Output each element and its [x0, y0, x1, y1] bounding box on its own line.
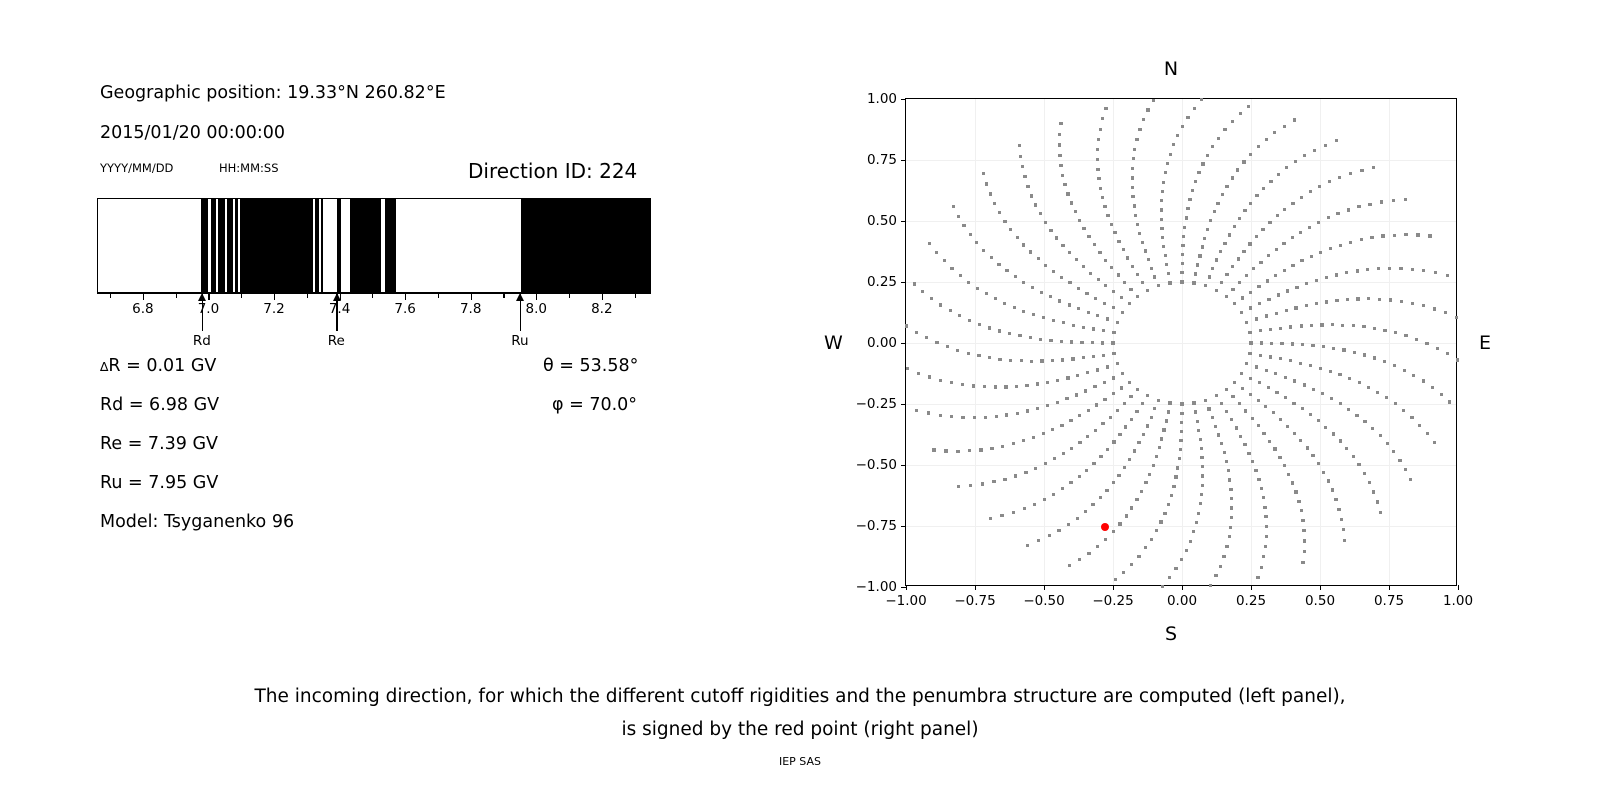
direction-point: [968, 319, 971, 322]
direction-point: [1067, 523, 1070, 526]
direction-point: [1301, 561, 1304, 564]
direction-point: [935, 251, 938, 254]
direction-point: [1431, 386, 1434, 389]
direction-point: [1303, 383, 1306, 386]
direction-point: [1123, 402, 1126, 405]
direction-point: [1247, 105, 1250, 108]
direction-point: [1069, 419, 1072, 422]
direction-point: [1121, 311, 1124, 314]
direction-point: [1061, 487, 1064, 490]
direction-point: [1404, 334, 1407, 337]
direction-point: [1074, 210, 1077, 213]
direction-point: [1034, 203, 1037, 206]
direction-point: [1062, 452, 1065, 455]
direction-point: [1277, 293, 1280, 296]
direction-point: [1068, 251, 1071, 254]
direction-point: [1338, 176, 1341, 179]
direction-point: [1078, 558, 1081, 561]
direction-point: [1096, 168, 1099, 171]
direction-point: [1209, 219, 1212, 222]
direction-point: [961, 416, 964, 419]
direction-point: [1164, 254, 1167, 257]
direction-point: [1087, 552, 1090, 555]
direction-point: [1123, 281, 1126, 284]
direction-point: [939, 379, 942, 382]
direction-point: [1347, 208, 1350, 211]
direction-point: [1070, 201, 1073, 204]
direction-point: [1204, 284, 1207, 287]
direction-point: [1336, 212, 1339, 215]
direction-point: [1436, 347, 1439, 350]
x-axis-tick-label: −0.25: [1092, 593, 1133, 609]
direction-point: [1367, 297, 1370, 300]
direction-point: [1116, 321, 1119, 324]
direction-point: [1140, 490, 1143, 493]
direction-point: [1315, 302, 1318, 305]
direction-point: [1261, 228, 1264, 231]
direction-point: [1403, 369, 1406, 372]
direction-point: [994, 297, 997, 300]
direction-point: [1319, 251, 1322, 254]
direction-point: [1412, 374, 1415, 377]
gridline-vertical: [1182, 99, 1183, 585]
direction-point: [1249, 202, 1252, 205]
direction-point: [985, 292, 988, 295]
direction-point: [1340, 518, 1343, 521]
direction-point: [1099, 455, 1102, 458]
direction-point: [1133, 148, 1136, 151]
direction-point: [1023, 507, 1026, 510]
direction-point: [935, 341, 938, 344]
direction-point: [1128, 302, 1131, 305]
gridline-vertical: [1044, 99, 1045, 585]
direction-point: [1225, 545, 1228, 548]
direction-point: [1269, 328, 1272, 331]
direction-point: [1131, 176, 1134, 179]
direction-point: [1016, 236, 1019, 239]
direction-point: [1228, 535, 1231, 538]
direction-point: [1345, 447, 1348, 450]
direction-point: [1161, 585, 1164, 588]
direction-point: [1240, 311, 1243, 314]
direction-point: [1004, 385, 1007, 388]
direction-point: [1305, 282, 1308, 285]
direction-point: [1130, 506, 1133, 509]
direction-point: [1381, 234, 1384, 237]
direction-point: [1325, 276, 1328, 279]
direction-point: [1300, 324, 1303, 327]
direction-point: [1289, 359, 1292, 362]
direction-point: [1059, 122, 1062, 125]
direction-point: [1264, 515, 1267, 518]
direction-point: [1024, 471, 1027, 474]
direction-point: [1311, 344, 1314, 347]
direction-point: [1015, 385, 1018, 388]
direction-point: [1283, 125, 1286, 128]
direction-point: [1279, 357, 1282, 360]
direction-point: [1192, 401, 1195, 404]
direction-point: [1042, 432, 1045, 435]
direction-point: [1030, 360, 1033, 363]
direction-point: [1305, 304, 1308, 307]
direction-point: [1181, 253, 1184, 256]
y-axis-tick-label: −0.75: [856, 518, 897, 534]
direction-point: [1345, 271, 1348, 274]
direction-point: [1236, 168, 1239, 171]
direction-point: [1087, 235, 1090, 238]
direction-point: [1078, 441, 1081, 444]
direction-point: [1208, 275, 1211, 278]
direction-point: [1063, 183, 1066, 186]
direction-point: [1263, 506, 1266, 509]
direction-point: [1260, 566, 1263, 569]
direction-point: [1377, 267, 1380, 270]
gridline-vertical: [1320, 99, 1321, 585]
direction-point: [1053, 457, 1056, 460]
direction-point: [1012, 442, 1015, 445]
direction-point: [1003, 478, 1006, 481]
direction-point: [1039, 212, 1042, 215]
direction-point: [1328, 180, 1331, 183]
direction-point: [1225, 388, 1228, 391]
direction-point: [1018, 334, 1021, 337]
direction-point: [1180, 421, 1183, 424]
direction-point: [1142, 118, 1145, 121]
direction-point: [1418, 424, 1421, 427]
right-panel: −1.00−0.75−0.50−0.250.000.250.500.751.00…: [0, 0, 1600, 660]
direction-point: [1049, 229, 1052, 232]
direction-point: [1214, 574, 1217, 577]
direction-point: [1299, 231, 1302, 234]
direction-point: [1146, 424, 1149, 427]
direction-point: [1249, 153, 1252, 156]
compass-south-label: S: [1165, 623, 1177, 645]
direction-point: [1394, 331, 1397, 334]
direction-point: [1180, 558, 1183, 561]
direction-point: [1085, 292, 1088, 295]
direction-point: [1197, 429, 1200, 432]
direction-point: [1005, 269, 1008, 272]
direction-point: [1346, 298, 1349, 301]
direction-point: [950, 381, 953, 384]
direction-point: [1012, 511, 1015, 514]
direction-point: [1150, 538, 1153, 541]
direction-point: [1220, 442, 1223, 445]
direction-point: [1009, 228, 1012, 231]
y-axis-tick: [901, 526, 906, 527]
direction-point: [1230, 418, 1233, 421]
direction-point: [1203, 237, 1206, 240]
direction-point: [1456, 358, 1459, 361]
direction-point: [1207, 407, 1210, 410]
direction-point: [1327, 216, 1330, 219]
direction-point: [1102, 354, 1105, 357]
direction-point: [1078, 414, 1081, 417]
direction-point: [1300, 259, 1303, 262]
direction-point: [1310, 324, 1313, 327]
direction-point: [1318, 185, 1321, 188]
direction-point: [1174, 567, 1177, 570]
direction-point: [1279, 327, 1282, 330]
direction-point: [1103, 398, 1106, 401]
direction-point: [1195, 521, 1198, 524]
direction-point: [1239, 435, 1242, 438]
direction-point: [989, 517, 992, 520]
direction-point: [1194, 272, 1197, 275]
direction-point: [1225, 295, 1228, 298]
direction-point: [1189, 540, 1192, 543]
direction-point: [1034, 467, 1037, 470]
direction-point: [1071, 357, 1074, 360]
direction-point: [1329, 370, 1332, 373]
direction-point: [1141, 241, 1144, 244]
direction-point: [1031, 286, 1034, 289]
direction-point: [1293, 118, 1296, 121]
direction-point: [1225, 273, 1228, 276]
direction-point: [1075, 393, 1078, 396]
direction-point: [1150, 416, 1153, 419]
direction-point: [1274, 372, 1277, 375]
direction-point: [1400, 300, 1403, 303]
direction-point: [1046, 381, 1049, 384]
direction-point: [1084, 389, 1087, 392]
direction-point: [1174, 475, 1177, 478]
direction-point: [1030, 194, 1033, 197]
direction-point: [1185, 549, 1188, 552]
direction-point: [1355, 414, 1358, 417]
direction-point: [1044, 221, 1047, 224]
direction-point: [1040, 359, 1043, 362]
direction-point: [1257, 399, 1260, 402]
direction-point: [1309, 413, 1312, 416]
direction-point: [1317, 462, 1320, 465]
direction-point: [1075, 258, 1078, 261]
direction-point: [1320, 323, 1323, 326]
y-axis-tick-label: 0.75: [867, 152, 897, 168]
direction-point: [1165, 419, 1168, 422]
direction-point: [1294, 306, 1297, 309]
direction-point: [1096, 314, 1099, 317]
direction-point: [1112, 306, 1115, 309]
direction-point: [1170, 494, 1173, 497]
direction-point: [1229, 488, 1232, 491]
direction-point: [989, 192, 992, 195]
x-axis-tick: [1182, 585, 1183, 590]
direction-point: [1287, 473, 1290, 476]
direction-point: [1167, 503, 1170, 506]
x-axis-tick-label: 0.00: [1167, 593, 1197, 609]
direction-point: [1029, 336, 1032, 339]
direction-point: [1297, 500, 1300, 503]
y-axis-tick-label: −0.25: [856, 396, 897, 412]
direction-point: [1247, 452, 1250, 455]
direction-point: [1220, 281, 1223, 284]
direction-point: [1026, 185, 1029, 188]
direction-point: [1332, 432, 1335, 435]
direction-point: [1366, 268, 1369, 271]
direction-point: [1147, 258, 1150, 261]
direction-point: [1192, 530, 1195, 533]
direction-point: [1264, 405, 1267, 408]
direction-point: [1265, 138, 1268, 141]
x-axis-tick-label: 1.00: [1443, 593, 1473, 609]
direction-point: [1176, 466, 1179, 469]
direction-point: [1146, 108, 1149, 111]
direction-point: [1193, 107, 1196, 110]
direction-point: [1085, 469, 1088, 472]
direction-point: [1373, 356, 1376, 359]
direction-point: [1370, 236, 1373, 239]
direction-point: [1267, 298, 1270, 301]
direction-point: [1245, 274, 1248, 277]
direction-point: [1069, 481, 1072, 484]
direction-point: [1165, 263, 1168, 266]
selected-direction-point[interactable]: [1101, 523, 1109, 531]
direction-point: [1248, 331, 1251, 334]
direction-point: [1214, 425, 1217, 428]
direction-point: [1332, 347, 1335, 350]
direction-point: [1112, 530, 1115, 533]
direction-point: [1089, 272, 1092, 275]
direction-point: [1104, 284, 1107, 287]
direction-point: [1080, 341, 1083, 344]
direction-point: [1066, 192, 1069, 195]
direction-point: [1335, 139, 1338, 142]
x-axis-tick: [1458, 585, 1459, 590]
direction-point: [1117, 240, 1120, 243]
direction-point: [1386, 442, 1389, 445]
direction-point: [1283, 208, 1286, 211]
direction-point: [1303, 550, 1306, 553]
direction-point: [1037, 539, 1040, 542]
direction-point: [1257, 145, 1260, 148]
direction-point: [1094, 297, 1097, 300]
direction-point: [1299, 362, 1302, 365]
direction-point: [1294, 490, 1297, 493]
direction-point: [1091, 503, 1094, 506]
direction-point: [1168, 281, 1171, 284]
direction-point: [1110, 266, 1113, 269]
direction-point: [1118, 433, 1121, 436]
direction-point: [1066, 376, 1069, 379]
direction-point: [1021, 165, 1024, 168]
direction-point: [1200, 456, 1203, 459]
direction-point: [995, 415, 998, 418]
direction-point: [1097, 177, 1100, 180]
direction-point: [1245, 321, 1248, 324]
direction-point: [1118, 522, 1121, 525]
direction-point: [1155, 529, 1158, 532]
direction-point: [1376, 391, 1379, 394]
direction-point: [1291, 264, 1294, 267]
direction-point: [1352, 455, 1355, 458]
direction-point: [1283, 269, 1286, 272]
direction-point: [1060, 340, 1063, 343]
direction-point: [1402, 409, 1405, 412]
caption-line-2: is signed by the red point (right panel): [0, 719, 1600, 740]
direction-point: [1389, 298, 1392, 301]
direction-point: [1356, 297, 1359, 300]
direction-point: [1285, 309, 1288, 312]
x-axis-tick-label: −0.75: [954, 593, 995, 609]
direction-point: [921, 290, 924, 293]
direction-point: [1321, 392, 1324, 395]
direction-point: [1068, 303, 1071, 306]
direction-point: [1254, 469, 1257, 472]
direction-point: [1137, 555, 1140, 558]
direction-point: [1082, 265, 1085, 268]
direction-point: [957, 215, 960, 218]
direction-point: [1022, 439, 1025, 442]
direction-point: [962, 224, 965, 227]
direction-point: [1059, 164, 1062, 167]
direction-point: [1131, 167, 1134, 170]
direction-point: [1194, 180, 1197, 183]
direction-point: [1065, 397, 1068, 400]
direction-point: [1233, 225, 1236, 228]
direction-point: [998, 211, 1001, 214]
direction-point: [1092, 327, 1095, 330]
direction-point: [1200, 447, 1203, 450]
direction-point: [1128, 458, 1131, 461]
direction-point: [1168, 401, 1171, 404]
direction-point: [1293, 379, 1296, 382]
direction-point: [1058, 143, 1061, 146]
direction-point: [928, 375, 931, 378]
direction-point: [1077, 287, 1080, 290]
direction-point: [1294, 160, 1297, 163]
direction-point: [1259, 261, 1262, 264]
direction-point: [1121, 372, 1124, 375]
direction-point: [1255, 235, 1258, 238]
direction-point: [1186, 116, 1189, 119]
direction-point: [1249, 393, 1252, 396]
direction-point: [1094, 429, 1097, 432]
direction-point: [997, 263, 1000, 266]
direction-point: [1306, 446, 1309, 449]
direction-point: [1256, 576, 1259, 579]
y-axis-tick: [901, 160, 906, 161]
direction-point: [1357, 463, 1360, 466]
direction-point: [946, 345, 949, 348]
direction-point: [1093, 243, 1096, 246]
y-axis-tick-label: 0.25: [867, 274, 897, 290]
direction-point: [1128, 381, 1131, 384]
direction-point: [1178, 457, 1181, 460]
direction-point: [1311, 454, 1314, 457]
direction-point: [1217, 433, 1220, 436]
direction-point: [915, 331, 918, 334]
direction-point: [1141, 281, 1144, 284]
direction-point: [1099, 128, 1102, 131]
direction-point: [1347, 408, 1350, 411]
direction-point: [1152, 464, 1155, 467]
direction-point: [1163, 512, 1166, 515]
direction-point: [1426, 432, 1429, 435]
direction-point: [1049, 295, 1052, 298]
direction-point: [1241, 296, 1244, 299]
direction-point: [1265, 525, 1268, 528]
direction-point: [1046, 404, 1049, 407]
direction-point: [1301, 407, 1304, 410]
direction-point: [1166, 162, 1169, 165]
direction-point: [1104, 107, 1107, 110]
direction-point: [982, 172, 985, 175]
direction-point: [1201, 465, 1204, 468]
direction-point: [1225, 185, 1228, 188]
direction-point: [1239, 112, 1242, 115]
direction-point: [1023, 175, 1026, 178]
